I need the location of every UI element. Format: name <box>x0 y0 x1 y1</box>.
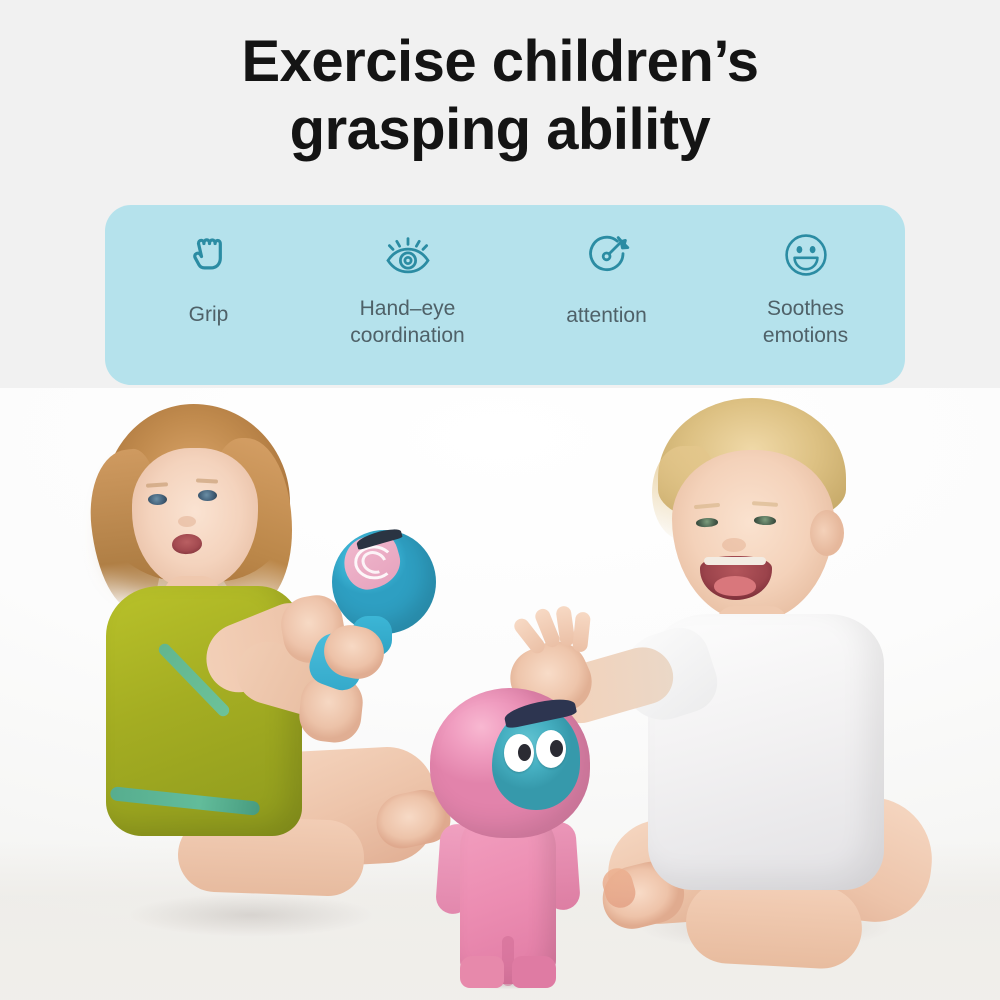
feature-label-grip: Grip <box>189 301 229 328</box>
baby-right-finger-4 <box>572 611 591 652</box>
grip-hand-icon <box>181 227 237 279</box>
feature-label-attention: attention <box>566 302 647 329</box>
target-arrow-icon <box>579 227 635 280</box>
product-photo <box>0 388 1000 1000</box>
feature-panel: Grip Hand–eye coordination <box>105 205 905 385</box>
toy-pink-foot-left <box>460 956 504 988</box>
baby-right <box>560 394 1000 1000</box>
baby-right-teeth <box>704 557 766 565</box>
baby-right-shin <box>684 879 864 970</box>
baby-right-ear <box>810 510 844 556</box>
toy-pink-pupil-left <box>518 744 531 761</box>
feature-item-attention: attention <box>507 205 706 329</box>
feature-label-soothes-emotions: Soothes emotions <box>763 295 848 349</box>
feature-label-hand-eye-coordination: Hand–eye coordination <box>350 295 464 349</box>
toy-pink-foot-right <box>512 956 556 988</box>
baby-left-eye-left <box>148 494 167 505</box>
baby-right-tongue <box>714 576 756 596</box>
feature-item-hand-eye-coordination: Hand–eye coordination <box>308 205 507 349</box>
product-feature-card: Exercise children’s grasping ability Gri… <box>0 0 1000 1000</box>
eye-icon <box>380 227 436 281</box>
baby-right-nose <box>722 538 746 552</box>
baby-left-nose <box>178 516 196 527</box>
toy-blue-rattle <box>300 530 440 690</box>
toy-pink-hooded-figure <box>420 688 600 988</box>
baby-left-eye-right <box>198 490 217 501</box>
smiley-face-icon <box>778 227 834 281</box>
page-title-line-1: Exercise children’s <box>0 28 1000 96</box>
page-title: Exercise children’s grasping ability <box>0 28 1000 164</box>
feature-item-grip: Grip <box>105 205 308 328</box>
toy-pink-pupil-right <box>550 740 563 757</box>
feature-item-soothes-emotions: Soothes emotions <box>706 205 905 349</box>
page-title-line-2: grasping ability <box>0 96 1000 164</box>
baby-right-eye-right <box>754 516 776 526</box>
